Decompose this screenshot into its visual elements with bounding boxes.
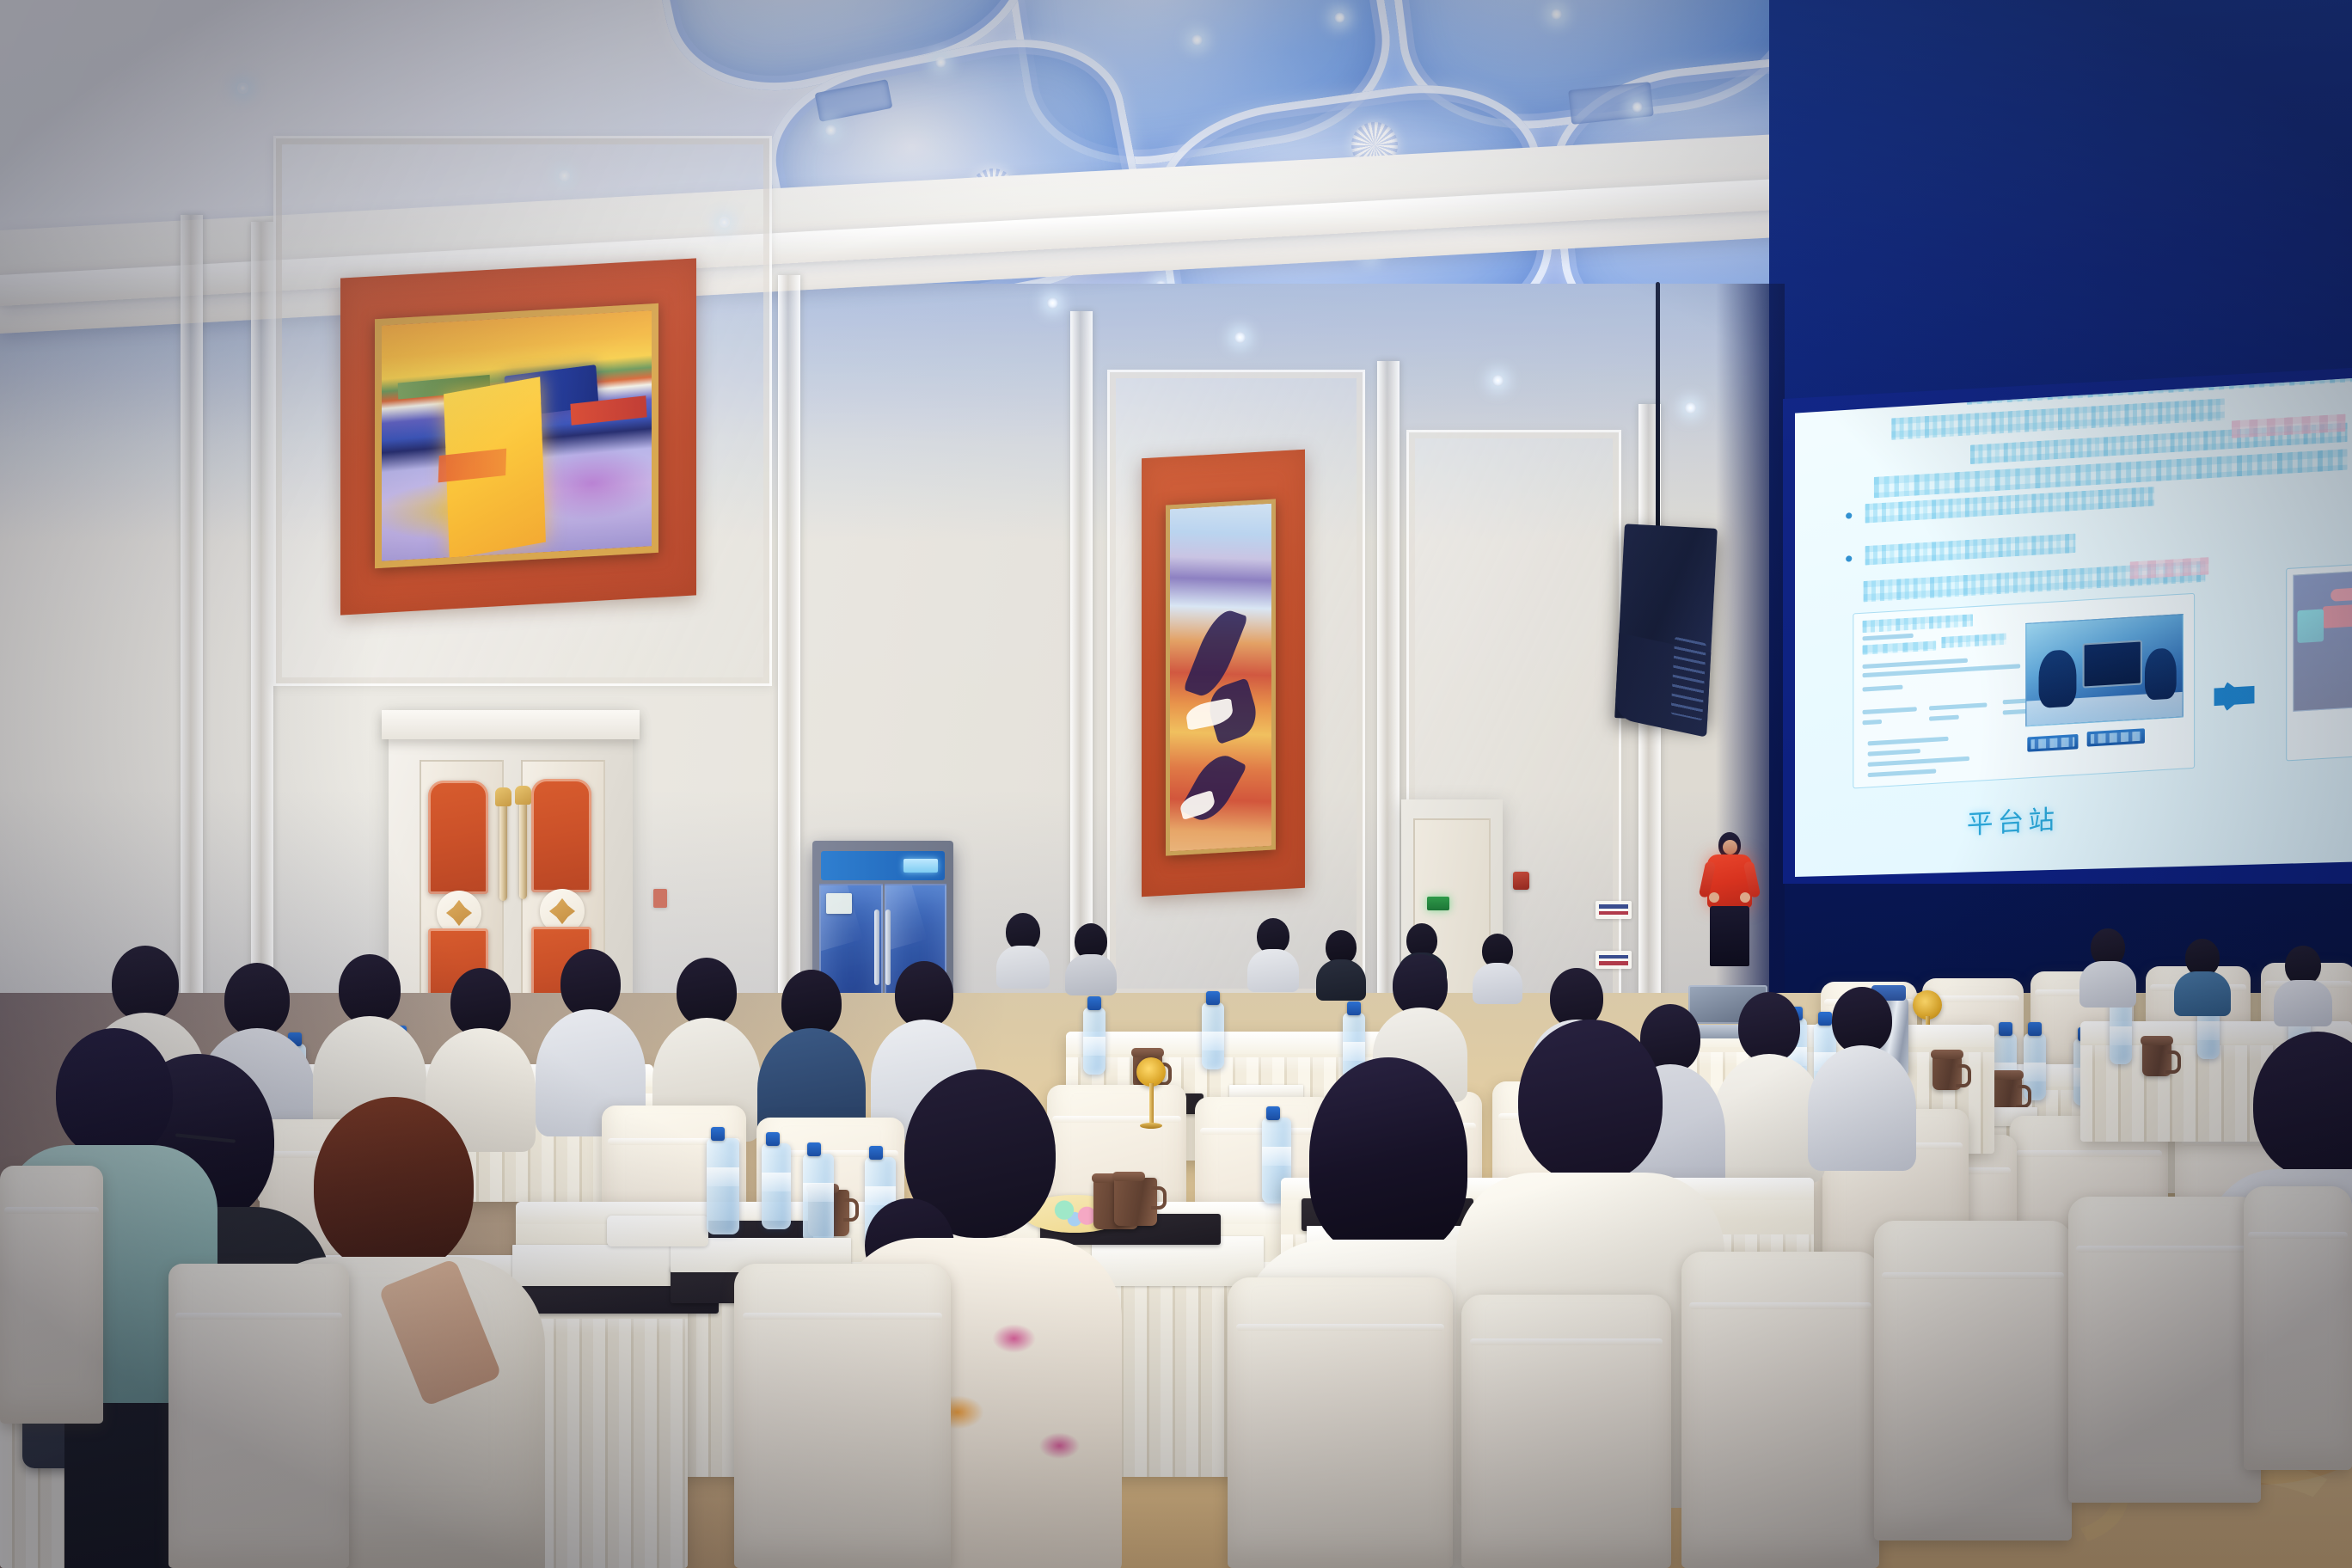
card-detail-line <box>1868 749 1920 756</box>
wall-notice-lower <box>1596 951 1632 969</box>
attendee-head <box>677 958 737 1026</box>
attendee-torso <box>1473 963 1522 1004</box>
artwork-2 <box>1166 499 1276 855</box>
presenter-hand-left <box>1709 892 1719 903</box>
speaker-suspension-cable <box>1656 282 1660 545</box>
attendee <box>1248 918 1298 992</box>
sign-text-bar <box>1599 911 1628 916</box>
ceiling-downlight <box>1191 34 1203 46</box>
slide-content: 平台站 <box>1795 378 2352 877</box>
card-detail-line <box>1868 769 1937 777</box>
attendee-head <box>1518 1020 1663 1183</box>
card-stat-value <box>1929 715 1959 721</box>
attendee <box>1473 934 1522 1004</box>
attendee-torso <box>2079 961 2136 1008</box>
attendee-torso <box>1065 954 1117 995</box>
presenter-skirt <box>1710 906 1749 966</box>
sign-text-bar <box>1599 961 1628 965</box>
slide-bullet-text-2 <box>1865 534 2076 566</box>
card-desc-line <box>1863 685 1903 692</box>
attendee-torso <box>2274 980 2332 1026</box>
presenter-hand-right <box>1740 892 1750 903</box>
slide-caption: 平台站 <box>1967 798 2059 842</box>
cooler-door-sticker <box>826 893 853 914</box>
card-tag-censored-2 <box>1941 633 2006 648</box>
card-detail-line <box>1868 737 1949 746</box>
attendee-head <box>2253 1032 2352 1178</box>
table-number-base <box>1140 1123 1162 1129</box>
ceramic-tea-mug[interactable] <box>2142 1042 2171 1076</box>
folded-napkin <box>607 1216 708 1246</box>
ceiling-downlight <box>935 57 946 68</box>
card-stat-label <box>1929 702 1987 710</box>
ceiling-downlight <box>1334 12 1345 23</box>
card-detail-line <box>1868 756 1969 767</box>
attendee-torso <box>2174 971 2231 1016</box>
water-bottle[interactable] <box>762 1143 791 1229</box>
door-panel-left <box>428 781 488 894</box>
ceiling-downlight <box>1632 101 1643 113</box>
chair[interactable] <box>1874 1221 2072 1540</box>
table-number-disc <box>1913 990 1942 1020</box>
attendee-head <box>560 949 621 1018</box>
attendee-head <box>1738 992 1800 1063</box>
ceiling-downlight <box>825 125 836 136</box>
card-button-label-censored <box>2030 737 2074 749</box>
attendee-head <box>314 1097 474 1274</box>
card-meta-line <box>1863 634 1914 641</box>
card-secondary-button[interactable] <box>2087 728 2145 746</box>
attendee-torso <box>1316 959 1366 1001</box>
presenter <box>1704 832 1755 970</box>
water-bottle[interactable] <box>1083 1008 1106 1075</box>
attendee-head <box>112 946 179 1021</box>
attendee-head <box>781 970 842 1037</box>
fire-alarm-call-point[interactable] <box>1513 872 1529 890</box>
card-primary-button[interactable] <box>2027 734 2078 752</box>
cooler-temperature-display <box>903 859 938 873</box>
attendee-head <box>339 954 401 1025</box>
sign-text-bar <box>1599 955 1628 959</box>
cornice-downlight <box>1492 375 1504 386</box>
door-header-molding <box>382 710 640 739</box>
phone-screenshot-frame <box>2286 560 2352 761</box>
attendee <box>1317 930 1365 1001</box>
sign-text-bar <box>1599 904 1628 909</box>
attendee <box>1066 923 1116 995</box>
table-number-disc <box>1136 1057 1166 1087</box>
attendee-head <box>1832 987 1892 1054</box>
slide-listing-card <box>1853 593 2195 789</box>
attendee <box>2080 928 2135 1008</box>
attendee <box>2175 939 2230 1016</box>
water-bottle[interactable] <box>707 1138 739 1234</box>
slide-bullet-2 <box>1846 555 1852 562</box>
cornice-downlight <box>1047 297 1058 309</box>
pa-speaker <box>1614 524 1718 722</box>
slide-bullet-1 <box>1846 512 1852 519</box>
attendee-head <box>56 1028 173 1159</box>
thumbnail-person-right <box>2145 647 2176 700</box>
ceiling-downlight <box>237 83 248 94</box>
chair[interactable] <box>734 1264 951 1568</box>
thumbnail-person-left <box>2039 650 2077 709</box>
card-tag-censored <box>1863 640 1937 654</box>
cornice-downlight <box>1685 402 1696 413</box>
card-product-thumbnail <box>2025 614 2184 726</box>
speaker-rigging-holes <box>1671 637 1706 721</box>
water-bottle[interactable] <box>1202 1002 1224 1069</box>
wall-pilaster <box>778 275 800 1049</box>
wall-pilaster <box>251 222 273 1038</box>
attendee-head <box>895 961 953 1028</box>
wall-notice-left <box>653 889 667 908</box>
chair[interactable] <box>2244 1186 2352 1470</box>
door-quatrefoil-right <box>549 898 575 924</box>
cooler-header-panel <box>821 851 945 880</box>
attendee-head <box>224 963 290 1037</box>
door-handle-left[interactable] <box>499 801 507 901</box>
chair[interactable] <box>0 1166 103 1424</box>
attendee-torso <box>996 946 1050 989</box>
card-stat-value <box>1863 720 1882 725</box>
ceiling-downlight <box>1551 9 1562 20</box>
wall-pilaster <box>181 215 203 1040</box>
thumbnail-monitor <box>2083 640 2142 688</box>
attendee <box>1718 992 1821 1181</box>
door-quatrefoil-left <box>446 900 472 926</box>
attendee-head <box>1309 1057 1467 1255</box>
attendee <box>997 913 1049 987</box>
exit-sign <box>1427 897 1449 910</box>
attendee-torso <box>1247 949 1299 992</box>
chair[interactable] <box>1681 1252 1879 1568</box>
attendee-head <box>450 968 511 1037</box>
table-number-rod <box>1149 1083 1154 1124</box>
door-panel-right <box>531 779 591 892</box>
water-bottle[interactable] <box>803 1154 834 1243</box>
presenter-face <box>1723 840 1737 854</box>
chair[interactable] <box>2068 1197 2261 1503</box>
card-stat-label <box>1863 707 1917 714</box>
card-button-label-censored <box>2091 732 2141 744</box>
conference-hall-photo: 平台站 <box>0 0 2352 1568</box>
wall-notice-upper <box>1596 901 1632 919</box>
ceramic-tea-mug[interactable] <box>1932 1056 1962 1090</box>
artwork-1-yellow-form <box>444 377 546 559</box>
chair[interactable] <box>1228 1277 1453 1568</box>
attendee <box>2275 946 2331 1026</box>
table-number-stand <box>1131 1057 1171 1143</box>
chair[interactable] <box>168 1264 349 1568</box>
projection-screen: 平台站 <box>1795 378 2352 877</box>
attendee <box>1812 987 1912 1169</box>
ceramic-tea-mug[interactable] <box>1993 1076 2022 1111</box>
flow-arrow-icon <box>2214 686 2255 706</box>
artwork-1 <box>375 303 658 568</box>
arrow-head <box>2223 677 2246 714</box>
attendee-shoulders <box>1808 1045 1916 1171</box>
ceramic-tea-mug[interactable] <box>1114 1178 1157 1226</box>
cornice-downlight <box>1234 332 1246 343</box>
chair[interactable] <box>1461 1295 1671 1568</box>
card-title-censored <box>1863 614 1974 633</box>
door-handle-right[interactable] <box>519 799 527 899</box>
